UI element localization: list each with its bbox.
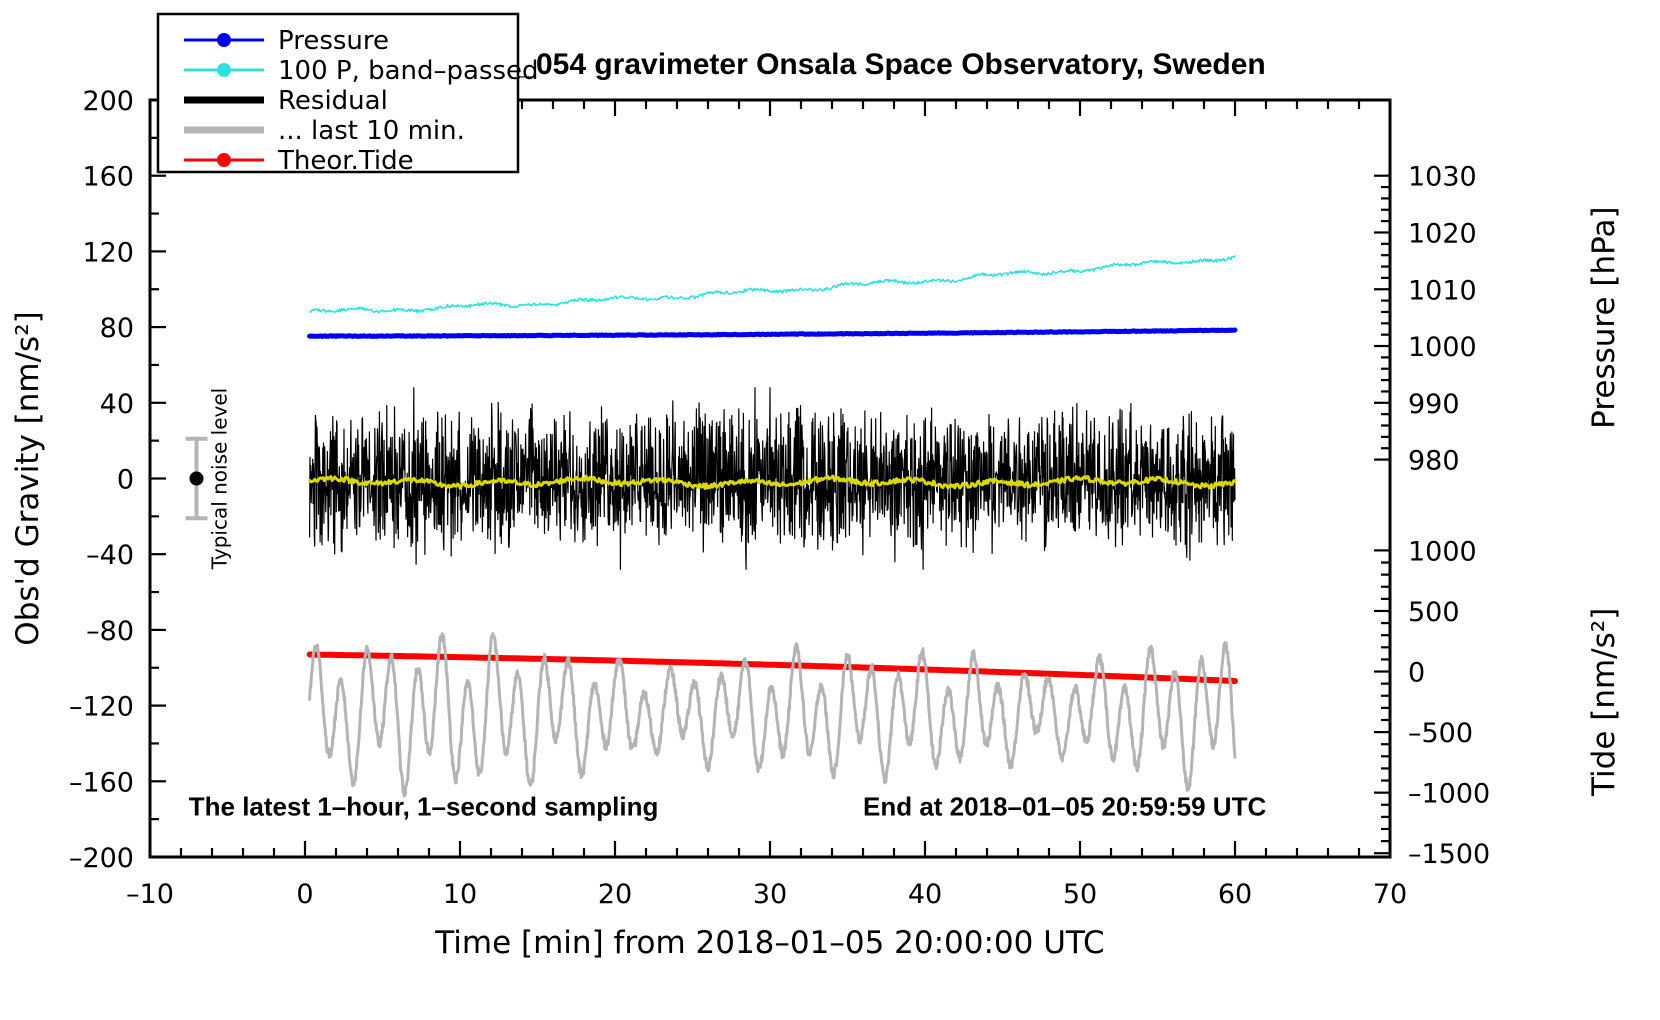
y-tick-label: 0 — [117, 465, 134, 496]
x-tick-label: 10 — [443, 879, 477, 910]
y-tick-label: 160 — [82, 162, 134, 193]
plot-title: SCG_054 gravimeter Onsala Space Observat… — [454, 48, 1266, 81]
legend-label: Residual — [278, 86, 388, 116]
tide-axis-tick-label: –1500 — [1408, 839, 1490, 870]
y-tick-label: 80 — [100, 313, 134, 344]
y-tick-label: –80 — [86, 616, 134, 647]
pressure-axis-tick-label: 1020 — [1408, 218, 1477, 249]
x-tick-label: –10 — [126, 879, 174, 910]
y-tick-label: 120 — [82, 237, 134, 268]
pressure-axis-title: Pressure [hPa] — [1586, 206, 1622, 428]
y-tick-label: –120 — [69, 692, 134, 723]
tide-axis-title: Tide [nm/s²] — [1586, 608, 1622, 797]
legend-swatch-marker — [217, 33, 231, 47]
pressure-axis-tick-label: 1010 — [1408, 275, 1477, 306]
pressure-axis-tick-label: 1000 — [1408, 332, 1477, 363]
tide-axis-tick-label: 1000 — [1408, 536, 1477, 567]
noise-level-label: Typical noise level — [208, 388, 232, 570]
tide-axis-tick-label: –1000 — [1408, 779, 1490, 810]
pressure-axis-tick-label: 990 — [1408, 389, 1460, 420]
noise-level-dot — [190, 472, 204, 486]
chart-page: –1001020304050607020016012080400–40–80–1… — [0, 0, 1660, 1020]
y-tick-label: 200 — [82, 86, 134, 117]
x-axis-title: Time [min] from 2018–01–05 20:00:00 UTC — [434, 925, 1104, 961]
end-time-note: End at 2018–01–05 20:59:59 UTC — [863, 791, 1266, 821]
y-tick-label: –160 — [69, 767, 134, 798]
x-tick-label: 60 — [1218, 879, 1252, 910]
legend-label: ... last 10 min. — [278, 116, 465, 146]
legend-label: Pressure — [278, 26, 389, 56]
x-tick-label: 70 — [1373, 879, 1407, 910]
x-tick-label: 0 — [296, 879, 313, 910]
pressure-axis-tick-label: 1030 — [1408, 162, 1477, 193]
x-tick-label: 40 — [908, 879, 942, 910]
legend-swatch-marker — [217, 153, 231, 167]
legend-label: 100 P, band–passed — [278, 56, 539, 86]
x-tick-label: 20 — [598, 879, 632, 910]
y-axis-title: Obs'd Gravity [nm/s²] — [10, 311, 46, 645]
y-tick-label: 40 — [100, 389, 134, 420]
x-tick-label: 50 — [1063, 879, 1097, 910]
y-tick-label: –200 — [69, 843, 134, 874]
tide-axis-tick-label: 500 — [1408, 597, 1460, 628]
tide-axis-tick-label: 0 — [1408, 658, 1425, 689]
legend-swatch-marker — [217, 63, 231, 77]
y-tick-label: –40 — [86, 540, 134, 571]
sampling-note: The latest 1–hour, 1–second sampling — [189, 791, 659, 821]
pressure-axis-tick-label: 980 — [1408, 446, 1460, 477]
x-tick-label: 30 — [753, 879, 787, 910]
gravimeter-chart: –1001020304050607020016012080400–40–80–1… — [0, 0, 1660, 1020]
legend-label: Theor.Tide — [277, 146, 414, 176]
tide-axis-tick-label: –500 — [1408, 718, 1473, 749]
legend-group[interactable]: Pressure100 P, band–passedResidual... la… — [158, 14, 539, 176]
